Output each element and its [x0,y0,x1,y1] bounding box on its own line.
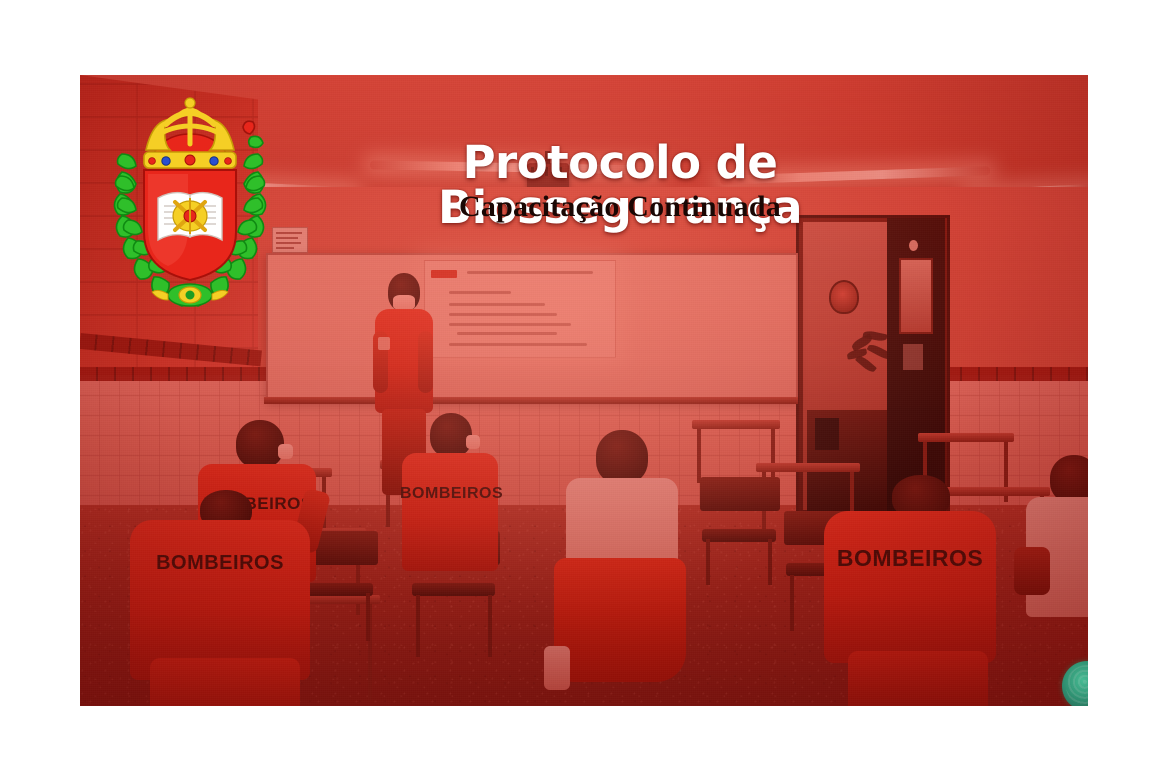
door-poster [899,258,933,334]
globe-icon [1062,661,1088,706]
student-right: BOMBEIROS [820,475,1000,706]
coat-of-arms-icon [100,90,280,320]
uniform-label: BOMBEIROS [130,552,310,575]
whiteboard-tray [264,397,798,404]
door-label [903,344,923,370]
door-knob-icon [909,240,918,251]
student-mid-left: BOMBEIROS [400,413,500,593]
face-mask-icon [393,295,415,310]
student-center [550,430,690,680]
student-far-right [1020,455,1088,675]
uniform-label: BOMBEIROS [820,545,1000,572]
projected-slide [424,260,616,358]
page-canvas: BOMBEIROS BOMBEIROS BOMBEIROS [0,0,1170,780]
uniform-label: BOMBEIROS [400,485,500,503]
fire-department-emblem-icon [829,280,859,314]
page-subtitle: Capacitação Continuada [300,192,940,222]
chair [700,477,780,587]
watermark: Relações Públicas e Ouvidoria [1042,661,1088,706]
face-mask-icon [278,444,293,459]
student-front-left: BOMBEIROS [130,490,310,706]
face-mask-icon [466,435,480,449]
door-leaf [887,218,945,514]
